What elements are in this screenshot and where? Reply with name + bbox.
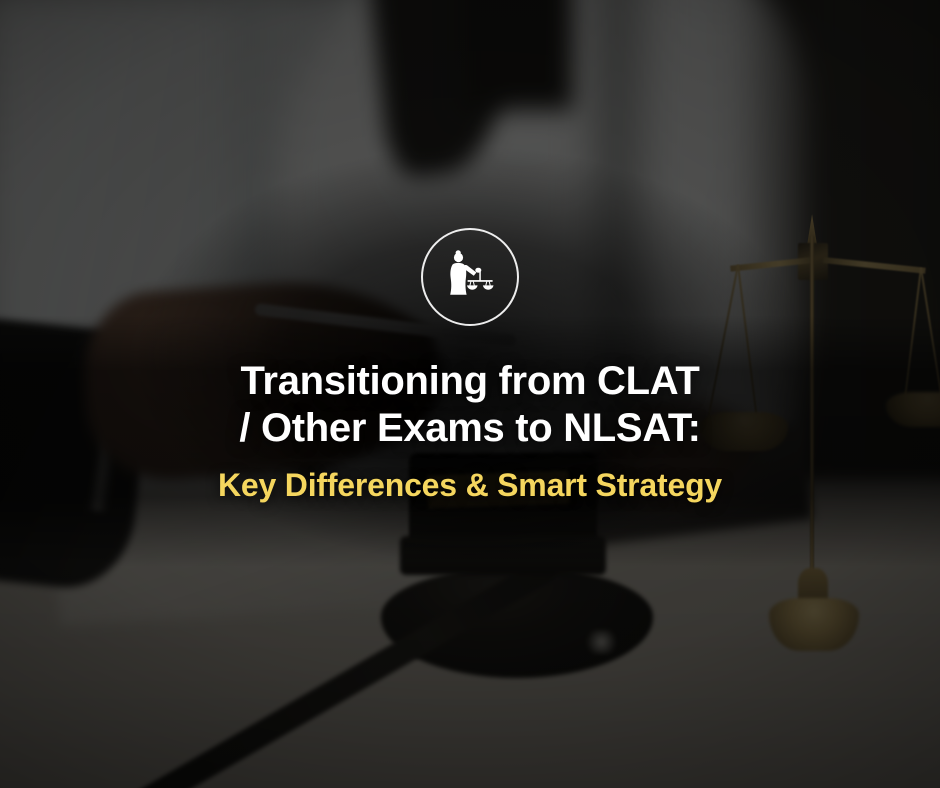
page-title: Transitioning from CLAT / Other Exams to…: [40, 358, 900, 452]
headline-line-2: / Other Exams to NLSAT:: [40, 405, 900, 452]
headline-line-1: Transitioning from CLAT: [40, 358, 900, 405]
title-block: Transitioning from CLAT / Other Exams to…: [0, 358, 940, 504]
lady-justice-logo-badge: [421, 228, 519, 326]
banner-content: Transitioning from CLAT / Other Exams to…: [0, 0, 940, 788]
blog-banner: Transitioning from CLAT / Other Exams to…: [0, 0, 940, 788]
lady-justice-scales-icon: [438, 245, 502, 309]
page-subtitle: Key Differences & Smart Strategy: [40, 466, 900, 504]
